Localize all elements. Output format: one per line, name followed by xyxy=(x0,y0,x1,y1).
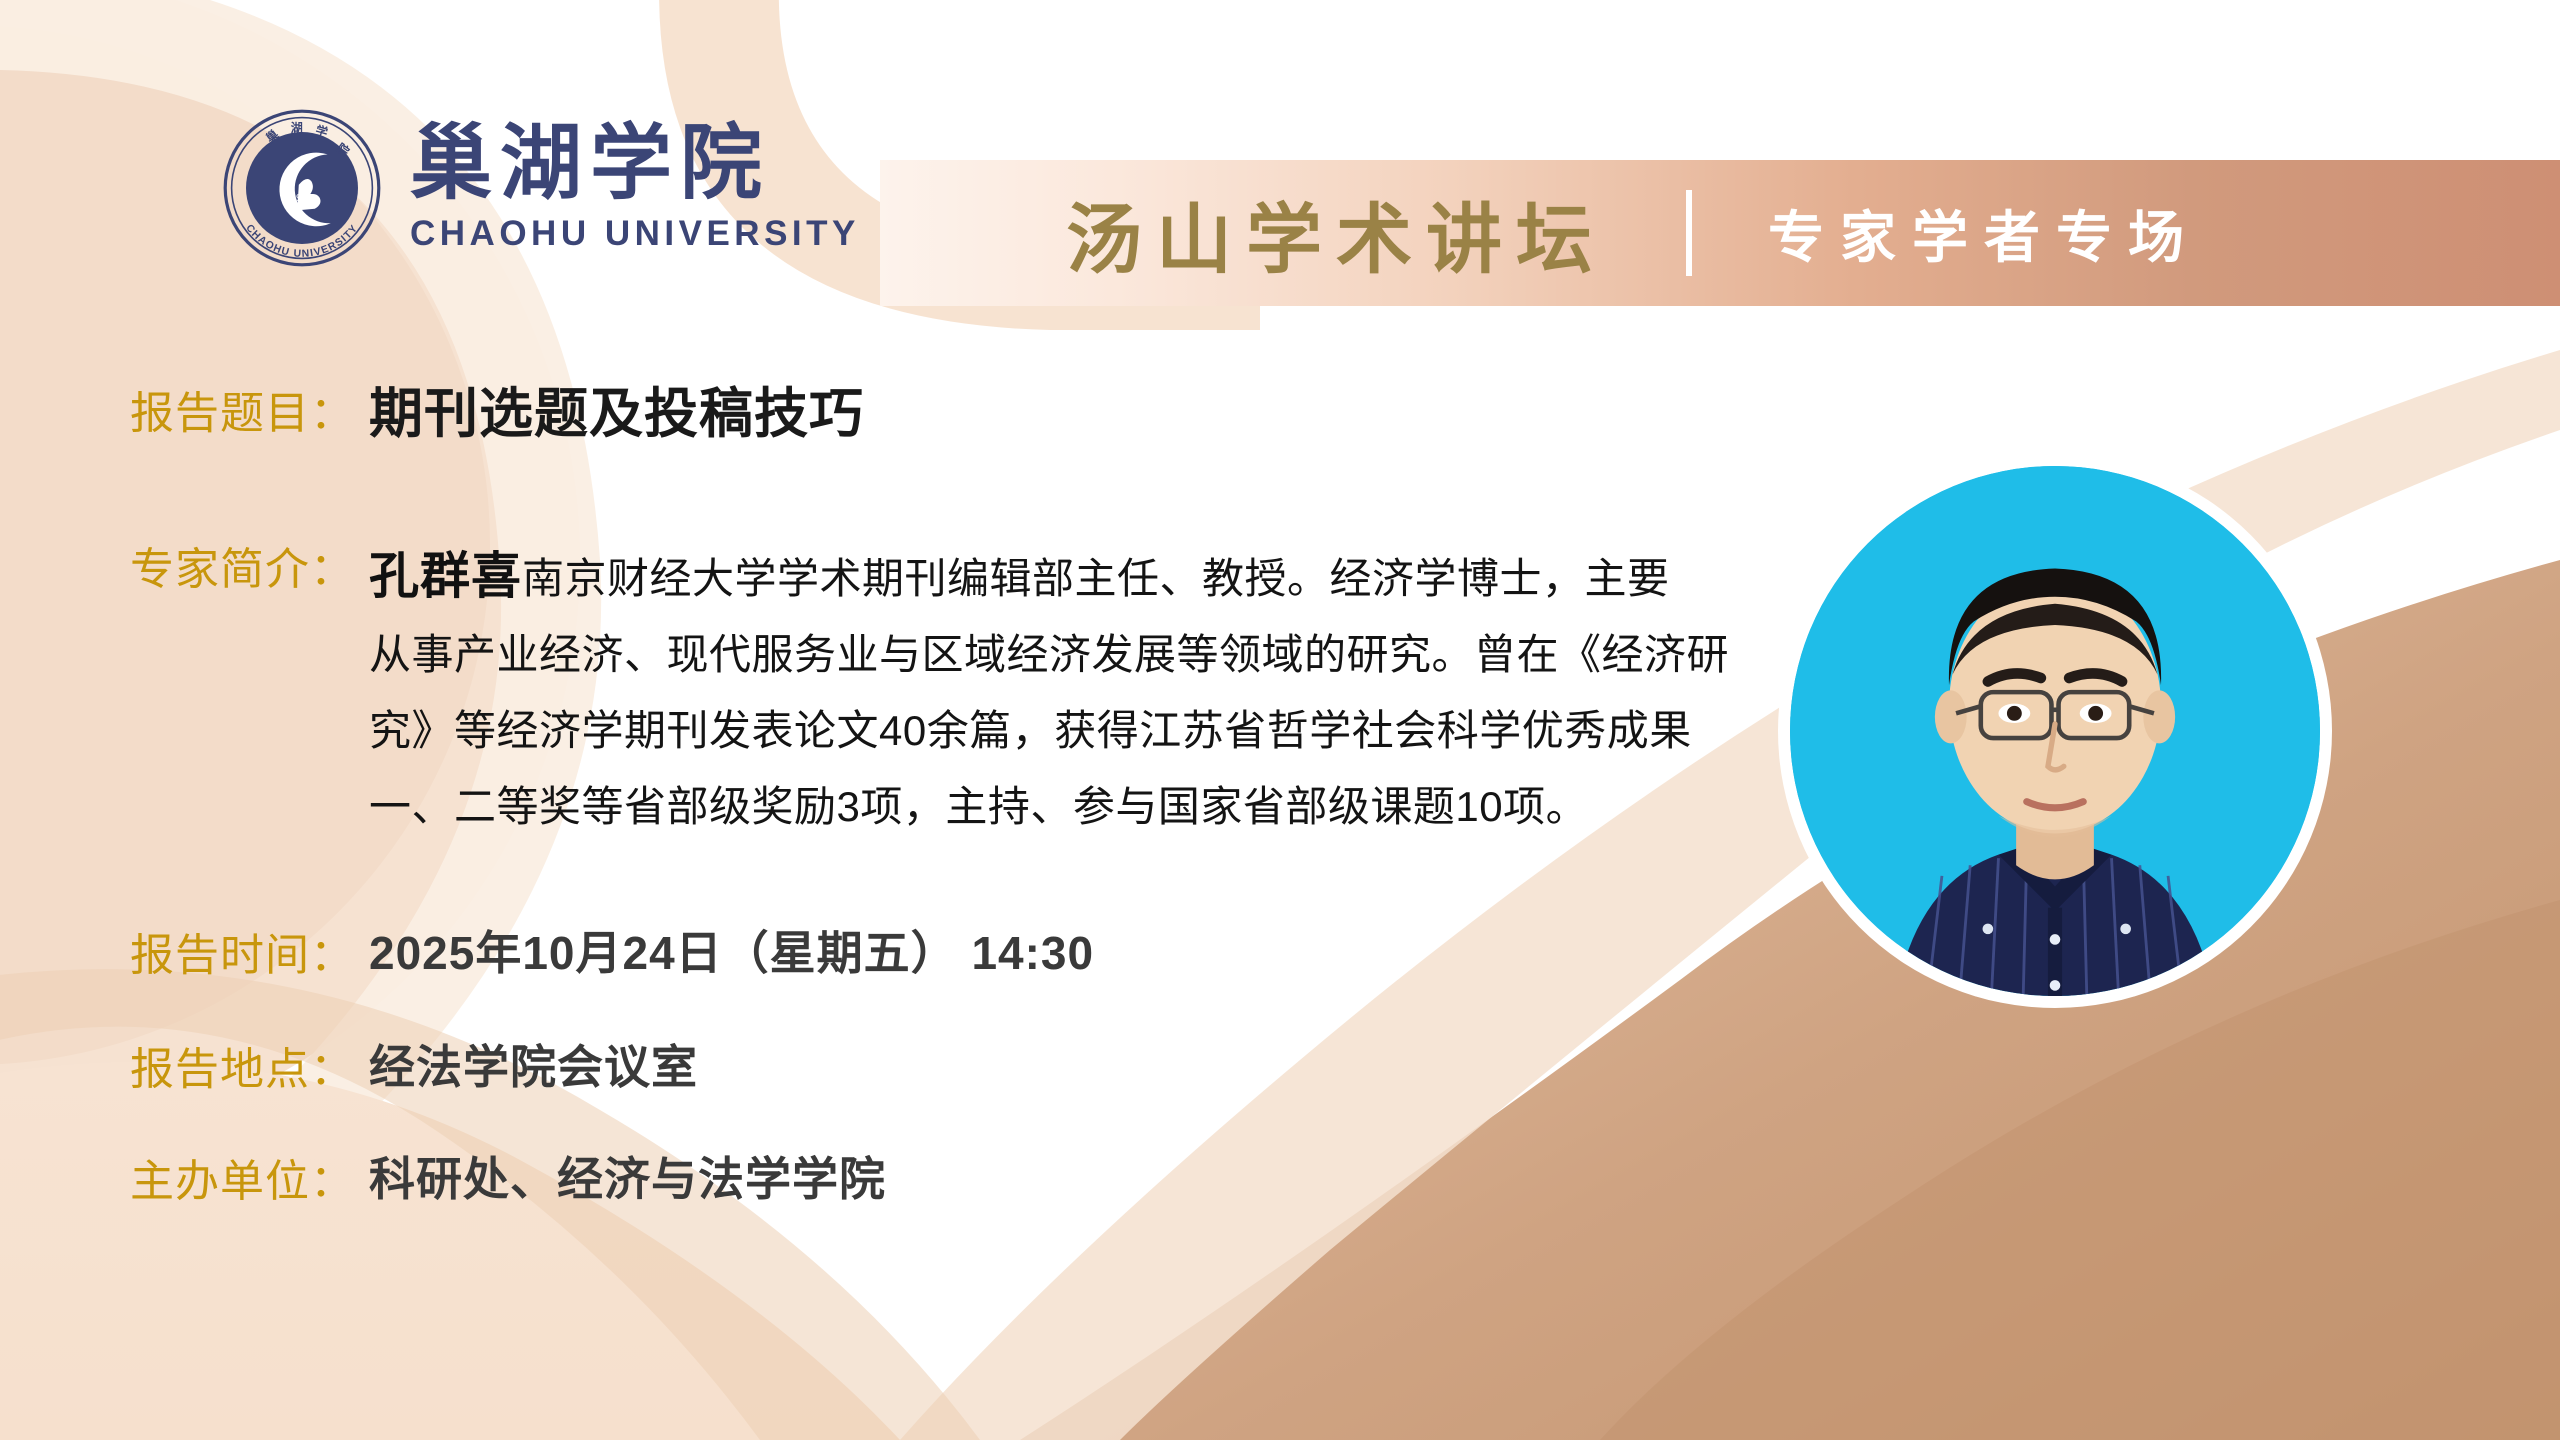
university-logo: 1977 巢 湖 学 院 CHAOHU UNIVERSITY 巢湖学院 CHAO… xyxy=(222,108,860,268)
report-title-label: 报告题目： xyxy=(130,388,355,441)
report-title-value: 期刊选题及投稿技巧 xyxy=(369,382,864,447)
report-place-label: 报告地点： xyxy=(130,1044,355,1097)
lecture-series-banner: 汤山学术讲坛 专家学者专场 xyxy=(880,160,2560,306)
speaker-portrait-image xyxy=(1790,466,2320,996)
university-wordmark: 巢湖学院 CHAOHU UNIVERSITY xyxy=(410,122,860,254)
svg-text:湖: 湖 xyxy=(291,120,303,135)
host-organization-row: 主办单位： 科研处、经济与法学学院 xyxy=(130,1152,886,1209)
report-time-label: 报告时间： xyxy=(130,930,355,983)
university-name-cn: 巢湖学院 xyxy=(410,122,860,204)
speaker-bio-block: 孔群喜南京财经大学学术期刊编辑部主任、教授。经济学博士，主要 从事产业经济、现代… xyxy=(369,538,1769,845)
speaker-bio-text: 孔群喜南京财经大学学术期刊编辑部主任、教授。经济学博士，主要 从事产业经济、现代… xyxy=(369,538,1769,845)
host-organization-value: 科研处、经济与法学学院 xyxy=(369,1152,886,1207)
speaker-bio-label: 专家简介： xyxy=(130,544,355,597)
report-title-row: 报告题目： 期刊选题及投稿技巧 xyxy=(130,382,864,447)
speaker-bio-row: 专家简介： 孔群喜南京财经大学学术期刊编辑部主任、教授。经济学博士，主要 从事产… xyxy=(130,538,1770,845)
svg-text:学: 学 xyxy=(314,122,330,140)
speaker-name: 孔群喜 xyxy=(369,548,522,604)
university-seal-icon: 1977 巢 湖 学 院 CHAOHU UNIVERSITY xyxy=(222,108,382,268)
svg-text:1977: 1977 xyxy=(290,193,314,204)
bio-line-1: 孔群喜南京财经大学学术期刊编辑部主任、教授。经济学博士，主要 xyxy=(369,538,1769,617)
report-place-value: 经法学院会议室 xyxy=(369,1040,698,1095)
banner-series-subtitle: 专家学者专场 xyxy=(1768,193,2200,274)
university-name-en: CHAOHU UNIVERSITY xyxy=(410,214,860,254)
lecture-poster: 1977 巢 湖 学 院 CHAOHU UNIVERSITY 巢湖学院 CHAO… xyxy=(0,0,2560,1440)
speaker-portrait xyxy=(1790,466,2320,996)
bio-line-4: 一、二等奖等省部级奖励3项，主持、参与国家省部级课题10项。 xyxy=(369,769,1769,845)
report-place-row: 报告地点： 经法学院会议室 xyxy=(130,1040,698,1097)
bio-line-3: 究》等经济学期刊发表论文40余篇，获得江苏省哲学社会科学优秀成果 xyxy=(369,693,1769,769)
banner-divider xyxy=(1686,190,1692,276)
host-organization-label: 主办单位： xyxy=(130,1156,355,1209)
report-time-value: 2025年10月24日（星期五） 14:30 xyxy=(369,926,1094,981)
report-time-row: 报告时间： 2025年10月24日（星期五） 14:30 xyxy=(130,926,1094,983)
poster-header: 1977 巢 湖 学 院 CHAOHU UNIVERSITY 巢湖学院 CHAO… xyxy=(0,0,2560,330)
banner-series-title: 汤山学术讲坛 xyxy=(1066,178,1606,288)
bio-line-2: 从事产业经济、现代服务业与区域经济发展等领域的研究。曾在《经济研 xyxy=(369,617,1769,693)
bio-line-1-text: 南京财经大学学术期刊编辑部主任、教授。经济学博士，主要 xyxy=(522,555,1670,602)
